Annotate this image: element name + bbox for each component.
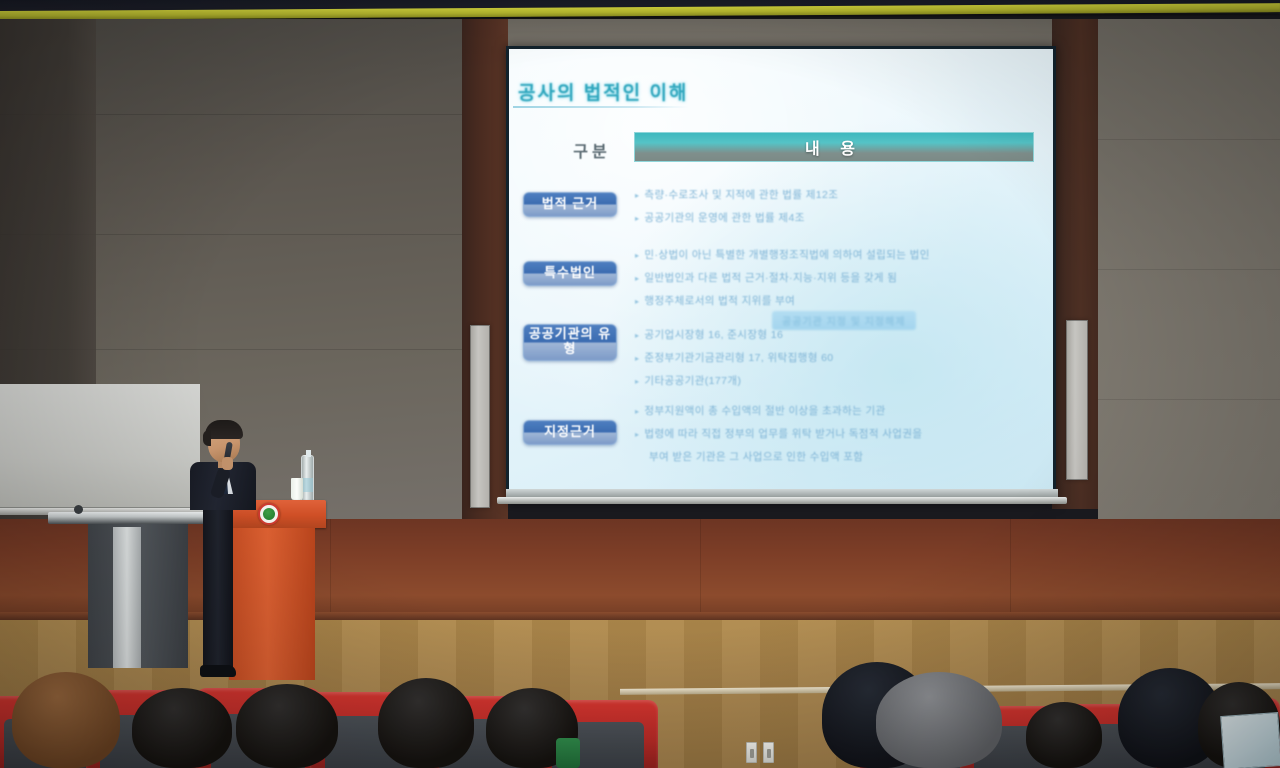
- speaker-hand: [222, 457, 233, 470]
- console-microphone: [74, 505, 83, 514]
- lecture-hall-photo: 공사의 법적인 이해 구분 내 용 법적 근거 측량·수로조사 및 지적에 관한…: [0, 0, 1280, 768]
- speaker-hair-side: [203, 430, 211, 446]
- bullet: 정부지원액이 총 수입액의 절반 이상을 초과하는 기관: [635, 403, 922, 418]
- slide-row-bullets: 측량·수로조사 및 지적에 관한 법률 제12조 공공기관의 운영에 관한 법률…: [635, 187, 838, 233]
- acoustic-panel-right: [1066, 320, 1088, 480]
- wall-outlet: [746, 742, 757, 763]
- bullet: 측량·수로조사 및 지적에 관한 법률 제12조: [635, 187, 838, 202]
- control-console-top: [48, 512, 206, 524]
- projection-screen: 공사의 법적인 이해 구분 내 용 법적 근거 측량·수로조사 및 지적에 관한…: [509, 49, 1053, 497]
- audience-held-paper: [1220, 712, 1280, 768]
- acoustic-panel-left: [470, 325, 490, 508]
- table-header-content: 내 용: [634, 132, 1034, 162]
- podium: [229, 528, 315, 680]
- bullet: 공공기관의 운영에 관한 법률 제4조: [635, 210, 838, 225]
- slide-title-underline: [513, 106, 689, 108]
- slide-row-label: 지정근거: [523, 420, 617, 445]
- stage-trim: [0, 612, 1280, 620]
- slide-title: 공사의 법적인 이해: [518, 78, 688, 105]
- speaker-shoe: [200, 665, 236, 677]
- bullet: 기타공공기관(177개): [635, 373, 834, 388]
- bullet: 민·상법이 아닌 특별한 개별행정조직법에 의하여 설립되는 법인: [635, 247, 930, 262]
- bullet: 행정주체로서의 법적 지위를 부여: [635, 293, 930, 308]
- table-header-category: 구분: [549, 138, 635, 162]
- audience-head: [876, 672, 1002, 768]
- wall-outlet: [763, 742, 774, 763]
- bullet: 법령에 따라 직접 정부의 업무를 위탁 받거나 독점적 사업권을: [635, 426, 922, 441]
- audience-head: [378, 678, 474, 768]
- bullet: 준정부기관기금관리형 17, 위탁집행형 60: [635, 350, 834, 365]
- bullet: 일반법인과 다른 법적 근거·절차·지능·지위 등을 갖게 됨: [635, 270, 930, 285]
- bullet: 부여 받은 기관은 그 사업으로 인한 수입액 포함: [635, 449, 922, 464]
- audience-head: [132, 688, 232, 768]
- slide-row-bullets: 정부지원액이 총 수입액의 절반 이상을 초과하는 기관 법령에 따라 직접 정…: [635, 403, 922, 472]
- control-console-panel: [113, 527, 141, 668]
- screen-roller-bar: [497, 497, 1067, 504]
- slide-row-label: 공공기관의 유형: [523, 324, 617, 361]
- audience-head: [236, 684, 338, 768]
- whiteboard: [0, 384, 200, 510]
- speaker-legs: [203, 508, 233, 673]
- paper-cup: [291, 478, 303, 500]
- bottle-label: [302, 478, 313, 492]
- stage-front-wall: [0, 519, 1280, 621]
- audience-head: [1026, 702, 1102, 768]
- screen-soffit: [508, 19, 1054, 49]
- podium-emblem-icon: [258, 503, 280, 525]
- audience-head: [12, 672, 120, 768]
- slide-row-label: 특수법인: [523, 261, 617, 286]
- slide-row-bullets: 공기업시장형 16, 준시장형 16 준정부기관기금관리형 17, 위탁집행형 …: [635, 327, 834, 396]
- slide-row-label: 법적 근거: [523, 192, 617, 217]
- presentation-slide: 공사의 법적인 이해 구분 내 용 법적 근거 측량·수로조사 및 지적에 관한…: [509, 49, 1053, 497]
- slide-row-bullets: 민·상법이 아닌 특별한 개별행정조직법에 의하여 설립되는 법인 일반법인과 …: [635, 247, 930, 316]
- audience-green-shirt: [556, 738, 580, 768]
- bullet: 공기업시장형 16, 준시장형 16: [635, 327, 834, 342]
